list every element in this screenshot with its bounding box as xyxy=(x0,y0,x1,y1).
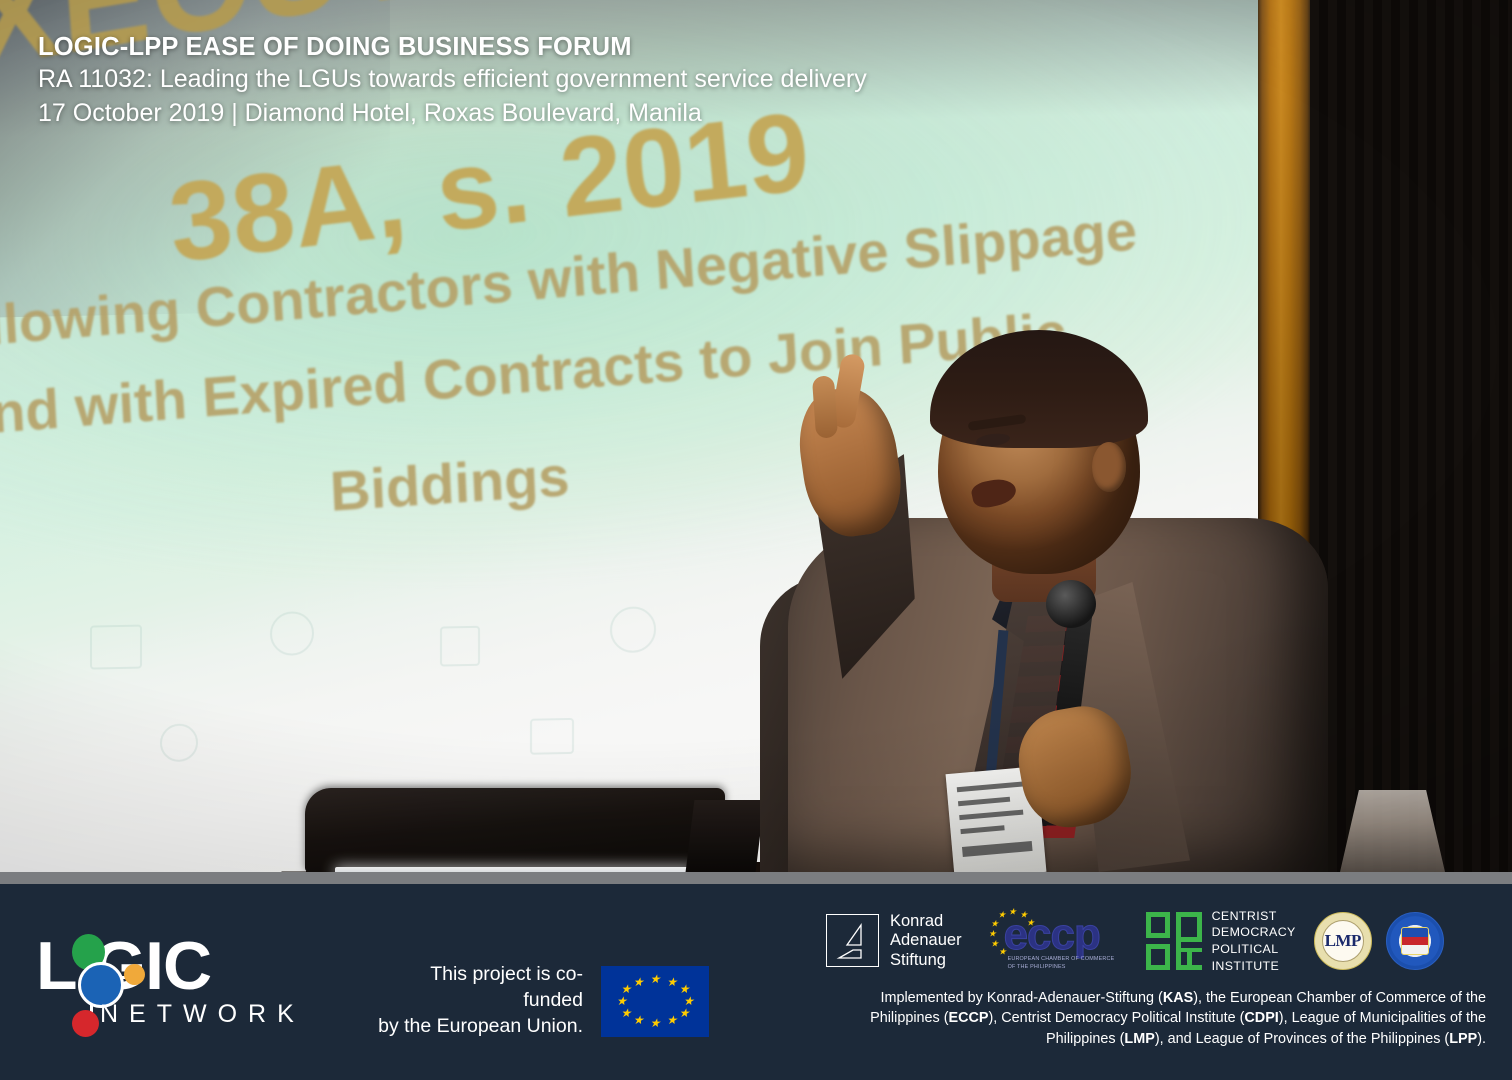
cdpi-line-4: INSTITUTE xyxy=(1212,958,1296,975)
kas-logo: Konrad Adenauer Stiftung xyxy=(826,912,962,970)
lmp-abbr: LMP xyxy=(1325,931,1361,951)
eccp-wordmark: eccp xyxy=(1004,913,1100,957)
impl-lmp: LMP xyxy=(1124,1031,1154,1047)
kas-line-2: Adenauer xyxy=(890,931,962,950)
logic-network-logo: L GIC NETWORK xyxy=(36,932,316,1037)
event-poster: EXECUTIVE ORDER No. 38A, s. 2019 isallow… xyxy=(0,0,1512,1080)
lpp-seal-logo xyxy=(1386,912,1444,970)
impl-lpp: LPP xyxy=(1449,1031,1477,1047)
speaker-figure xyxy=(740,330,1360,872)
logic-wordmark: L GIC xyxy=(36,932,211,1000)
speaker-ear xyxy=(1092,442,1126,492)
speaker-middle-finger xyxy=(812,375,838,438)
impl-part-5: ), and League of Provinces of the Philip… xyxy=(1155,1031,1449,1047)
speaker-hair xyxy=(930,330,1148,448)
cdpi-wordmark: CENTRIST DEMOCRACY POLITICAL INSTITUTE xyxy=(1212,908,1296,974)
event-subtitle: RA 11032: Leading the LGUs towards effic… xyxy=(38,63,1138,96)
cdpi-line-2: DEMOCRACY xyxy=(1212,924,1296,941)
logo-dot-red xyxy=(72,1010,99,1037)
footer-bar: L GIC NETWORK This project is co-funded … xyxy=(0,884,1512,1080)
impl-part-6: ). xyxy=(1477,1031,1486,1047)
impl-eccp: ECCP xyxy=(949,1010,989,1026)
slide-body-line-3: Biddings xyxy=(329,443,571,524)
cdpi-line-1: CENTRIST xyxy=(1212,908,1296,925)
cdpi-logo: CENTRIST DEMOCRACY POLITICAL INSTITUTE xyxy=(1146,908,1296,974)
logic-network-label: NETWORK xyxy=(100,1000,305,1029)
eu-cofunding-text: This project is co-funded by the Europea… xyxy=(378,962,583,1039)
kas-line-1: Konrad xyxy=(890,912,962,931)
eccp-subtitle-line-1: EUROPEAN CHAMBER OF COMMERCE xyxy=(1008,956,1128,964)
event-title: LOGIC-LPP EASE OF DOING BUSINESS FORUM xyxy=(38,32,1138,62)
microphone-head xyxy=(1046,580,1096,628)
kas-wordmark: Konrad Adenauer Stiftung xyxy=(890,912,962,970)
podium xyxy=(305,788,725,872)
impl-part-1: Implemented by Konrad-Adenauer-Stiftung … xyxy=(880,990,1162,1006)
cdpi-line-3: POLITICAL xyxy=(1212,941,1296,958)
european-union-flag-icon: ★ ★ ★ ★ ★ ★ ★ ★ ★ ★ ★ ★ xyxy=(601,966,709,1037)
kas-mark-icon xyxy=(826,914,879,967)
eu-cofunding-line-2: by the European Union. xyxy=(378,1014,583,1040)
logo-dot-orange xyxy=(124,964,145,985)
lmp-seal-logo: LMP xyxy=(1314,912,1372,970)
event-photo: EXECUTIVE ORDER No. 38A, s. 2019 isallow… xyxy=(0,0,1512,872)
impl-kas: KAS xyxy=(1163,990,1193,1006)
implemented-by-text: Implemented by Konrad-Adenauer-Stiftung … xyxy=(818,988,1486,1049)
footer-divider xyxy=(0,872,1512,884)
cdpi-mark-icon xyxy=(1146,912,1202,970)
eu-cofunding-line-1: This project is co-funded xyxy=(378,962,583,1013)
partner-logos-row: Konrad Adenauer Stiftung ★ ★ ★ ★ ★ ★ ★ ★… xyxy=(826,900,1486,982)
eccp-subtitle: EUROPEAN CHAMBER OF COMMERCE OF THE PHIL… xyxy=(1008,956,1128,972)
event-details: 17 October 2019 | Diamond Hotel, Roxas B… xyxy=(38,97,1138,130)
eu-cofunding-block: This project is co-funded by the Europea… xyxy=(378,966,723,1036)
impl-cdpi: CDPI xyxy=(1244,1010,1278,1026)
eccp-subtitle-line-2: OF THE PHILIPPINES xyxy=(1008,964,1128,972)
kas-line-3: Stiftung xyxy=(890,951,962,970)
impl-part-3: ), Centrist Democracy Political Institut… xyxy=(989,1010,1245,1026)
eccp-logo: ★ ★ ★ ★ ★ ★ ★ ★ eccp EUROPEAN CHAMBER OF… xyxy=(986,907,1128,975)
header-overlay: LOGIC-LPP EASE OF DOING BUSINESS FORUM R… xyxy=(38,32,1138,130)
